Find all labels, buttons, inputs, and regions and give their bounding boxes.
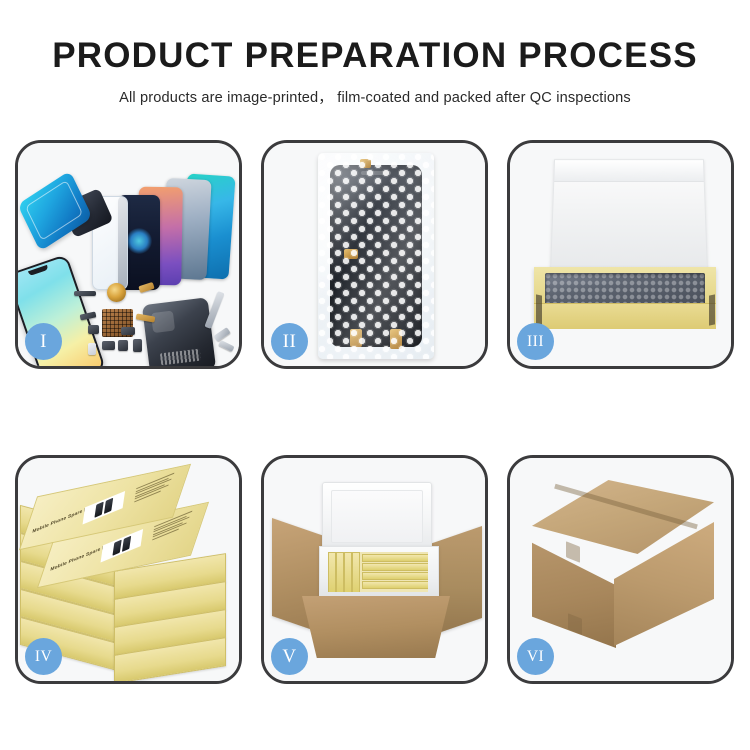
step-1-image: I xyxy=(18,143,239,366)
step-badge: III xyxy=(517,323,554,360)
box-label-product-image xyxy=(83,491,126,525)
box-corner-right xyxy=(709,294,715,325)
foam-lid xyxy=(550,159,708,278)
step-2-image: II xyxy=(264,143,485,366)
yellow-box-face xyxy=(362,572,428,580)
yellow-box-edge xyxy=(352,552,360,592)
step-badge: II xyxy=(271,323,308,360)
carton-body xyxy=(302,596,450,658)
yellow-box-edge xyxy=(344,552,352,592)
pry-tool xyxy=(218,340,234,352)
step-badge: VI xyxy=(517,638,554,675)
small-part-speaker xyxy=(118,340,128,351)
small-part-camera xyxy=(102,341,115,350)
yellow-box-edge xyxy=(336,552,344,592)
bubble-wrapped-contents xyxy=(545,273,705,307)
yellow-box-face xyxy=(362,563,428,571)
process-step-3: III xyxy=(507,140,734,369)
small-part-white-clip xyxy=(88,343,96,355)
yellow-box-face xyxy=(362,554,428,562)
small-part-bracket xyxy=(88,325,99,334)
page-subtitle: All products are image-printed， film-coa… xyxy=(0,86,750,107)
small-part-strip xyxy=(74,291,96,296)
product-preparation-infographic: PRODUCT PREPARATION PROCESS All products… xyxy=(0,0,750,750)
box-label-product-image xyxy=(101,529,144,563)
step-badge: IV xyxy=(25,638,62,675)
process-step-1: I xyxy=(15,140,242,369)
step-3-image: III xyxy=(510,143,731,366)
blue-protective-film xyxy=(17,171,92,252)
step-5-image: V xyxy=(264,458,485,681)
phone-back-housing xyxy=(142,297,216,369)
small-part-sim-tray xyxy=(133,339,142,352)
step-4-image: Mobile Phone Spare Parts Mobile Phone Sp… xyxy=(18,458,239,681)
header: PRODUCT PREPARATION PROCESS All products… xyxy=(0,38,750,107)
carton-tape-upper xyxy=(566,541,580,563)
yellow-box-edge xyxy=(328,552,336,592)
plastic-gloss xyxy=(318,153,434,359)
process-step-6: VI xyxy=(507,455,734,684)
copper-coil-part xyxy=(107,283,126,302)
yellow-box-face xyxy=(362,581,428,589)
bubble-wrap-bag xyxy=(318,153,434,359)
box-corner-left xyxy=(536,294,542,325)
process-step-grid: I II xyxy=(15,140,737,685)
step-badge: I xyxy=(25,323,62,360)
step-6-image: VI xyxy=(510,458,731,681)
mailer-box-front-wall xyxy=(534,303,716,329)
process-step-2: II xyxy=(261,140,488,369)
foam-box-lid xyxy=(322,482,432,552)
process-step-4: Mobile Phone Spare Parts Mobile Phone Sp… xyxy=(15,455,242,684)
box-label-specs xyxy=(134,473,174,503)
step-badge: V xyxy=(271,638,308,675)
page-title: PRODUCT PREPARATION PROCESS xyxy=(0,38,750,75)
yellow-boxes-inside-foam xyxy=(328,552,428,592)
process-step-5: V xyxy=(261,455,488,684)
small-part-shield xyxy=(121,327,135,335)
